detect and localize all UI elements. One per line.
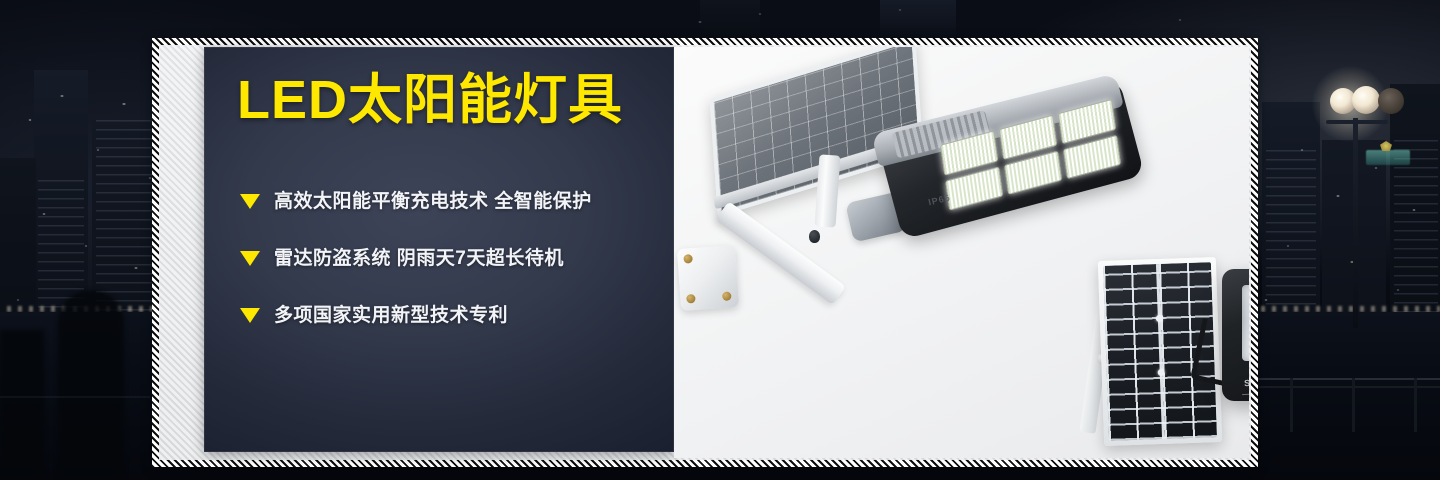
flood-light-reflector (1242, 285, 1249, 361)
feature-list: 高效太阳能平衡充电技术 全智能保护 雷达防盗系统 阴雨天7天超长待机 多项国家实… (240, 173, 660, 344)
street-light-mast (815, 154, 841, 227)
solar-flood-light-product: Solar light 100W IP67 (1222, 269, 1249, 401)
rail-post (1414, 378, 1417, 432)
solar-panel-node (1155, 315, 1162, 322)
product-showcase: IP65 (674, 47, 1249, 458)
bolt-icon (683, 254, 693, 264)
feature-text: 多项国家实用新型技术专利 (274, 304, 508, 328)
list-item: 高效太阳能平衡充电技术 全智能保护 (240, 173, 660, 230)
feature-text: 高效太阳能平衡充电技术 全智能保护 (274, 190, 592, 214)
radar-sensor-icon (809, 230, 820, 243)
billboard-sign (1366, 150, 1410, 165)
solar-panel-node (1157, 369, 1164, 376)
rail-post (1290, 378, 1293, 432)
promenade-rail (1230, 378, 1440, 380)
rail-post (1352, 378, 1355, 432)
foreground-silhouette (0, 330, 44, 480)
flood-light-housing: Solar light 100W IP67 (1222, 269, 1249, 401)
promenade-rail (0, 396, 150, 398)
lamp-pole (1353, 118, 1358, 328)
frame-inner-panel: LED太阳能灯具 高效太阳能平衡充电技术 全智能保护 雷达防盗系统 阴雨天7天超… (159, 45, 1251, 460)
list-item: 雷达防盗系统 阴雨天7天超长待机 (240, 230, 660, 287)
bolt-icon (686, 294, 696, 304)
list-item: 多项国家实用新型技术专利 (240, 287, 660, 344)
headline-panel: LED太阳能灯具 高效太阳能平衡充电技术 全智能保护 雷达防盗系统 阴雨天7天超… (204, 47, 674, 452)
lamp-globe (1352, 86, 1380, 114)
feature-text: 雷达防盗系统 阴雨天7天超长待机 (274, 247, 564, 271)
promenade-rail (1230, 386, 1440, 388)
hatched-border-frame: LED太阳能灯具 高效太阳能平衡充电技术 全智能保护 雷达防盗系统 阴雨天7天超… (152, 38, 1258, 467)
flood-light-label-underline (1242, 388, 1249, 395)
lamp-globe-dim (1378, 88, 1404, 114)
headline-panel-content: LED太阳能灯具 高效太阳能平衡充电技术 全智能保护 雷达防盗系统 阴雨天7天超… (204, 47, 674, 452)
triangle-down-icon (240, 251, 260, 266)
foreground-silhouette (58, 290, 124, 480)
bolt-icon (722, 291, 732, 301)
page-title: LED太阳能灯具 (237, 69, 623, 131)
triangle-down-icon (240, 194, 260, 209)
street-light-wall-bracket (677, 245, 739, 311)
triangle-down-icon (240, 308, 260, 323)
flood-light-brand-text: Solar light (1244, 376, 1249, 388)
